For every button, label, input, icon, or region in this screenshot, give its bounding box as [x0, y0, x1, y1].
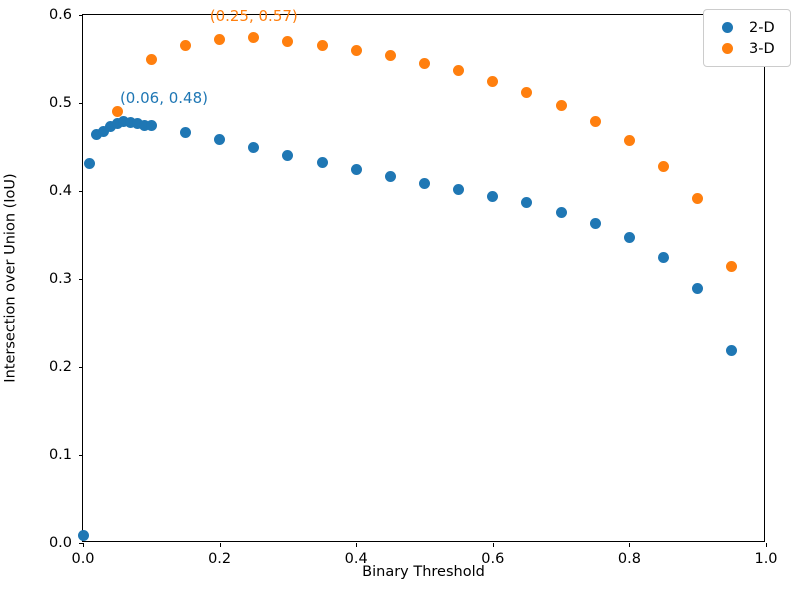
y-axis-label: Intersection over Union (IoU)	[0, 14, 22, 542]
data-point	[521, 197, 532, 208]
data-point	[590, 218, 601, 229]
data-point	[248, 142, 259, 153]
data-point	[146, 54, 157, 65]
data-point	[282, 150, 293, 161]
point-annotation: (0.25, 0.57)	[210, 7, 298, 25]
scatter-chart-figure: Intersection over Union (IoU) (0.06, 0.4…	[0, 0, 800, 600]
data-point	[419, 178, 430, 189]
y-tick-mark	[79, 279, 83, 280]
y-tick-label: 0.5	[49, 95, 72, 111]
data-point	[214, 34, 225, 45]
data-point	[282, 36, 293, 47]
legend-marker-2d-icon	[722, 22, 733, 33]
data-point	[78, 530, 89, 541]
x-tick-mark	[493, 543, 494, 547]
data-point	[351, 164, 362, 175]
data-point	[84, 158, 95, 169]
data-point	[419, 58, 430, 69]
data-point	[590, 116, 601, 127]
y-tick-label: 0.6	[49, 7, 72, 23]
x-axis-label: Binary Threshold	[82, 564, 765, 580]
y-tick-label: 0.2	[49, 359, 72, 375]
data-point	[317, 40, 328, 51]
data-point	[487, 76, 498, 87]
legend: 2-D 3-D	[703, 9, 791, 67]
x-tick-mark	[220, 543, 221, 547]
y-tick-mark	[79, 191, 83, 192]
y-tick-mark	[79, 543, 83, 544]
y-tick-mark	[79, 455, 83, 456]
legend-entry-3d: 3-D	[713, 38, 779, 59]
y-tick-mark	[79, 15, 83, 16]
data-point	[385, 171, 396, 182]
y-tick-label: 0.0	[49, 535, 72, 551]
data-point	[385, 50, 396, 61]
legend-marker-3d-icon	[722, 43, 733, 54]
data-point	[214, 134, 225, 145]
y-tick-mark	[79, 367, 83, 368]
data-point	[248, 32, 259, 43]
data-point	[726, 261, 737, 272]
data-point	[658, 252, 669, 263]
y-axis-label-text: Intersection over Union (IoU)	[3, 173, 19, 382]
data-point	[180, 40, 191, 51]
legend-label-2d: 2-D	[749, 20, 779, 36]
legend-entry-2d: 2-D	[713, 17, 779, 38]
data-point	[351, 45, 362, 56]
data-point	[112, 106, 123, 117]
data-point	[521, 87, 532, 98]
x-tick-mark	[356, 543, 357, 547]
y-tick-label: 0.4	[49, 183, 72, 199]
data-point	[317, 157, 328, 168]
y-tick-mark	[79, 103, 83, 104]
data-point	[146, 120, 157, 131]
legend-label-3d: 3-D	[749, 41, 779, 57]
data-point	[692, 283, 703, 294]
data-point	[624, 232, 635, 243]
data-point	[556, 100, 567, 111]
y-tick-label: 0.3	[49, 271, 72, 287]
data-point	[624, 135, 635, 146]
data-point	[180, 127, 191, 138]
x-tick-mark	[629, 543, 630, 547]
x-axis-label-text: Binary Threshold	[362, 564, 485, 580]
x-tick-mark	[83, 543, 84, 547]
data-point	[726, 345, 737, 356]
data-point	[556, 207, 567, 218]
data-point	[453, 184, 464, 195]
point-annotation: (0.06, 0.48)	[120, 89, 208, 107]
data-point	[487, 191, 498, 202]
data-point	[658, 161, 669, 172]
y-tick-label: 0.1	[49, 447, 72, 463]
x-tick-mark	[766, 543, 767, 547]
data-point	[453, 65, 464, 76]
data-point	[692, 193, 703, 204]
plot-area: (0.06, 0.48)(0.25, 0.57) 0.00.20.40.60.8…	[82, 14, 765, 542]
